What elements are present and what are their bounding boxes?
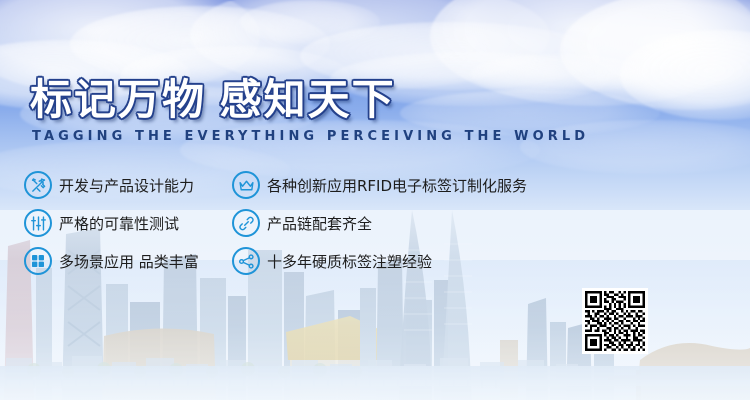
qr-code[interactable] [582, 288, 648, 354]
link-icon [232, 209, 260, 237]
feature-item-development: 开发与产品设计能力 [24, 171, 194, 199]
sliders-icon [24, 209, 52, 237]
feature-label: 多场景应用 品类丰富 [59, 251, 199, 272]
promo-banner: 标记万物 感知天下 TAGGING THE EVERYTHING PERCEIV… [0, 0, 750, 400]
feature-item-multi-scenario: 多场景应用 品类丰富 [24, 247, 199, 275]
feature-item-supply-chain: 产品链配套齐全 [232, 209, 372, 237]
share-icon [232, 247, 260, 275]
banner-content: 标记万物 感知天下 TAGGING THE EVERYTHING PERCEIV… [0, 0, 750, 400]
feature-list: 开发与产品设计能力 各种创新应用RFID电子标签订制化服务 [24, 166, 584, 280]
feature-row: 多场景应用 品类丰富 十多年硬质标签注塑经验 [24, 242, 584, 280]
feature-label: 产品链配套齐全 [267, 213, 372, 234]
crown-icon [232, 171, 260, 199]
feature-item-reliability-testing: 严格的可靠性测试 [24, 209, 179, 237]
feature-label: 十多年硬质标签注塑经验 [267, 251, 432, 272]
tools-icon [24, 171, 52, 199]
feature-item-molding-experience: 十多年硬质标签注塑经验 [232, 247, 432, 275]
feature-item-rfid-custom: 各种创新应用RFID电子标签订制化服务 [232, 171, 527, 199]
feature-label: 严格的可靠性测试 [59, 213, 179, 234]
feature-label: 开发与产品设计能力 [59, 175, 194, 196]
grid-icon [24, 247, 52, 275]
feature-row: 严格的可靠性测试 产品链配套齐全 [24, 204, 584, 242]
qr-code-matrix [585, 291, 645, 351]
page-subtitle: TAGGING THE EVERYTHING PERCEIVING THE WO… [32, 129, 589, 144]
feature-label: 各种创新应用RFID电子标签订制化服务 [267, 175, 527, 196]
page-title: 标记万物 感知天下 [30, 77, 396, 123]
feature-row: 开发与产品设计能力 各种创新应用RFID电子标签订制化服务 [24, 166, 584, 204]
